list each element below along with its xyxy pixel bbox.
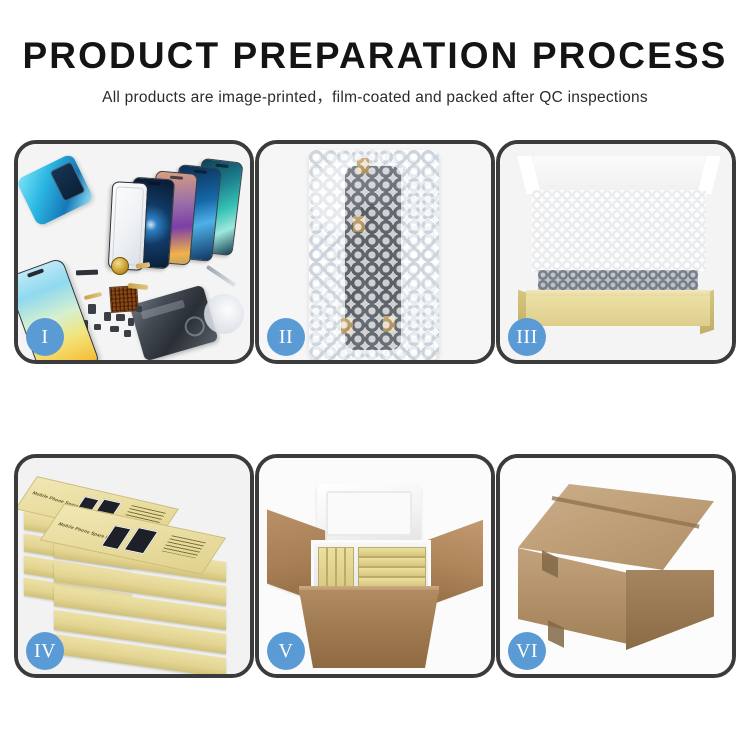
tweezers-icon <box>206 265 236 287</box>
styrofoam-lid <box>317 484 421 546</box>
packed-retail-box-5 <box>358 547 426 557</box>
photo-stacked-retail-boxes: Mobile Phone Spare Parts Mobile Phone Sp… <box>18 458 250 674</box>
small-part-i <box>136 306 142 312</box>
process-step-panel-4: Mobile Phone Spare Parts Mobile Phone Sp… <box>14 454 254 678</box>
carton-left-face <box>518 548 628 644</box>
box-front-panel-yellow <box>526 296 710 326</box>
small-part-f <box>110 326 119 332</box>
repair-tool-blur <box>204 294 244 334</box>
step-badge-6: VI <box>508 632 546 670</box>
photo-phone-parts-overview: I <box>18 144 250 360</box>
small-part-c <box>116 314 125 321</box>
process-step-panel-5: V <box>255 454 495 678</box>
header: PRODUCT PREPARATION PROCESS All products… <box>0 34 750 107</box>
step-badge-5: V <box>267 632 305 670</box>
process-step-panel-6: VI <box>496 454 736 678</box>
notch-icon <box>147 181 160 185</box>
tempered-glass-protector <box>108 181 149 271</box>
vibration-motor <box>111 257 129 275</box>
page-subtitle: All products are image-printed，film-coat… <box>0 85 750 107</box>
phone-screen-fan <box>92 160 250 266</box>
blue-phone-back-cover <box>18 153 94 227</box>
packed-retail-box-7 <box>358 567 426 577</box>
notch-icon <box>170 175 183 179</box>
white-foam-sheet <box>532 190 706 272</box>
carton-right-face <box>626 570 714 650</box>
step-badge-2: II <box>267 318 305 356</box>
step-badge-3: III <box>508 318 546 356</box>
packed-retail-box-6 <box>358 557 426 567</box>
adhesive-tab-lower-left <box>341 318 353 334</box>
bubble-wrap-bag <box>309 150 439 360</box>
small-part-a <box>88 304 96 314</box>
step-badge-4: IV <box>26 632 64 670</box>
photo-bubble-wrapped-part: II <box>259 144 491 360</box>
photo-sealed-carton: VI <box>500 458 732 674</box>
small-part-b <box>104 312 111 321</box>
box-lid-open <box>526 156 712 194</box>
carton-body <box>299 590 439 668</box>
step-badge-1: I <box>26 318 64 356</box>
process-step-panel-1: I <box>14 140 254 364</box>
product-preparation-process-infographic: PRODUCT PREPARATION PROCESS All products… <box>0 0 750 750</box>
earpiece-speaker-mesh <box>76 270 98 276</box>
process-step-panel-3: III <box>496 140 736 364</box>
process-steps-grid: I II <box>14 140 736 680</box>
box-artwork-text-lines-front <box>162 535 206 558</box>
adhesive-tab-lower-right <box>383 316 395 332</box>
notch-icon <box>215 163 228 168</box>
adhesive-tab-top <box>357 158 369 174</box>
adhesive-tab-mid <box>353 216 365 232</box>
page-title: PRODUCT PREPARATION PROCESS <box>0 34 750 78</box>
process-step-panel-2: II <box>255 140 495 364</box>
small-part-e <box>94 324 101 330</box>
logic-board-chip <box>109 285 139 313</box>
small-part-g <box>124 330 131 337</box>
photo-open-retail-box-with-foam: III <box>500 144 732 360</box>
small-part-d <box>128 318 134 326</box>
notch-icon <box>193 169 206 173</box>
flex-cable-c <box>84 292 102 300</box>
photo-carton-with-styrofoam: V <box>259 458 491 674</box>
